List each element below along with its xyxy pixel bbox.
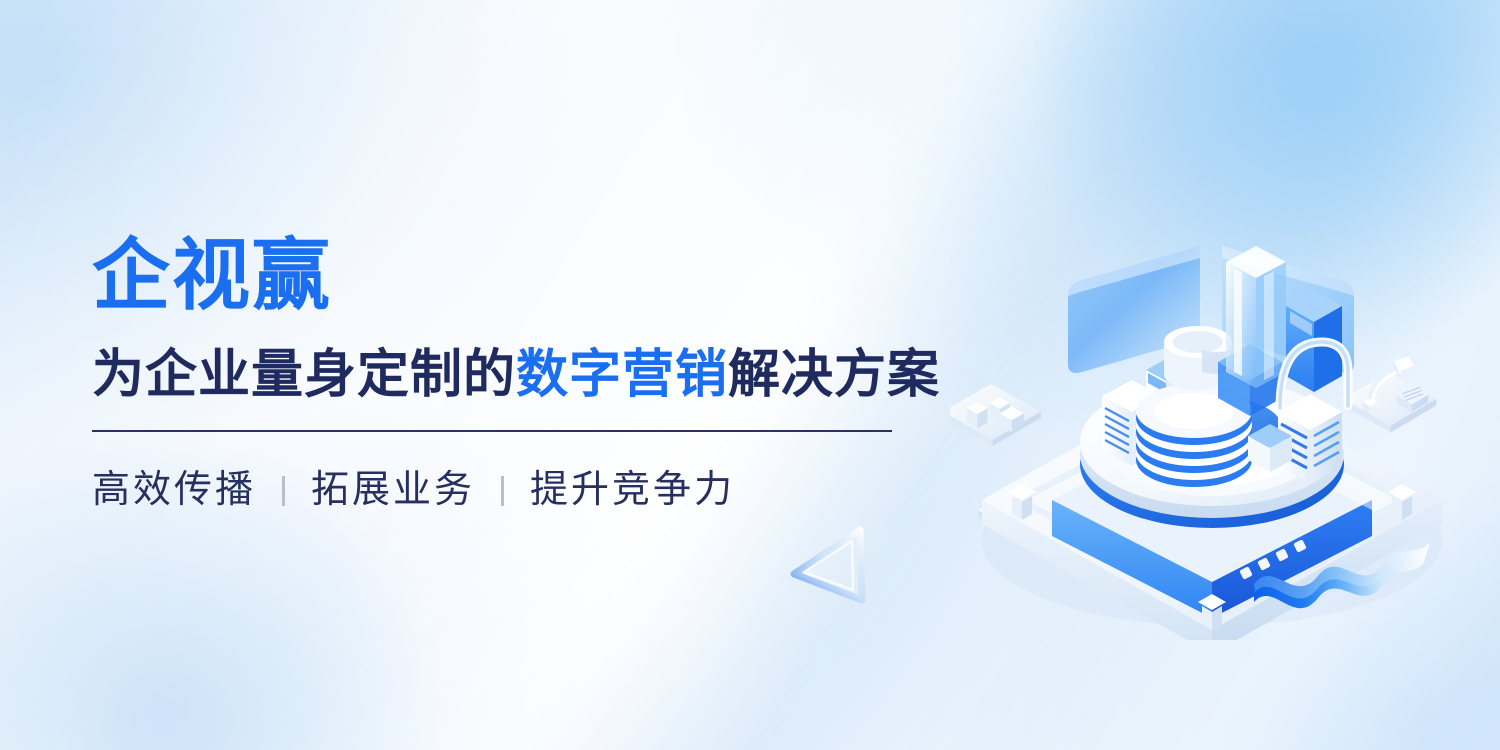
glass-tower xyxy=(1226,246,1286,388)
hero-tagline: 高效传播 拓展业务 提升竞争力 xyxy=(92,468,912,514)
wavy-ribbon-icon xyxy=(1248,518,1438,618)
section-divider xyxy=(92,430,892,432)
mini-city-platform xyxy=(950,384,1041,446)
tagline-item-1: 高效传播 xyxy=(92,468,256,514)
hero-text-block: 企视赢 为企业量身定制的数字营销解决方案 高效传播 拓展业务 提升竞争力 xyxy=(92,236,912,514)
hero-banner: 企视赢 为企业量身定制的数字营销解决方案 高效传播 拓展业务 提升竞争力 xyxy=(0,0,1500,750)
tagline-item-2: 拓展业务 xyxy=(311,468,475,514)
brand-title: 企视赢 xyxy=(92,236,912,314)
tagline-separator-2 xyxy=(501,476,504,506)
robot-arm-platform xyxy=(1343,356,1436,432)
glass-triangle-icon xyxy=(782,512,882,612)
tagline-separator-1 xyxy=(282,476,285,506)
headline-accent: 数字营销 xyxy=(516,346,728,404)
headline-lead: 为企业量身定制的 xyxy=(92,346,516,404)
headline-tail: 解决方案 xyxy=(728,346,940,404)
hero-headline: 为企业量身定制的数字营销解决方案 xyxy=(92,346,912,404)
tagline-item-3: 提升竞争力 xyxy=(530,468,735,514)
